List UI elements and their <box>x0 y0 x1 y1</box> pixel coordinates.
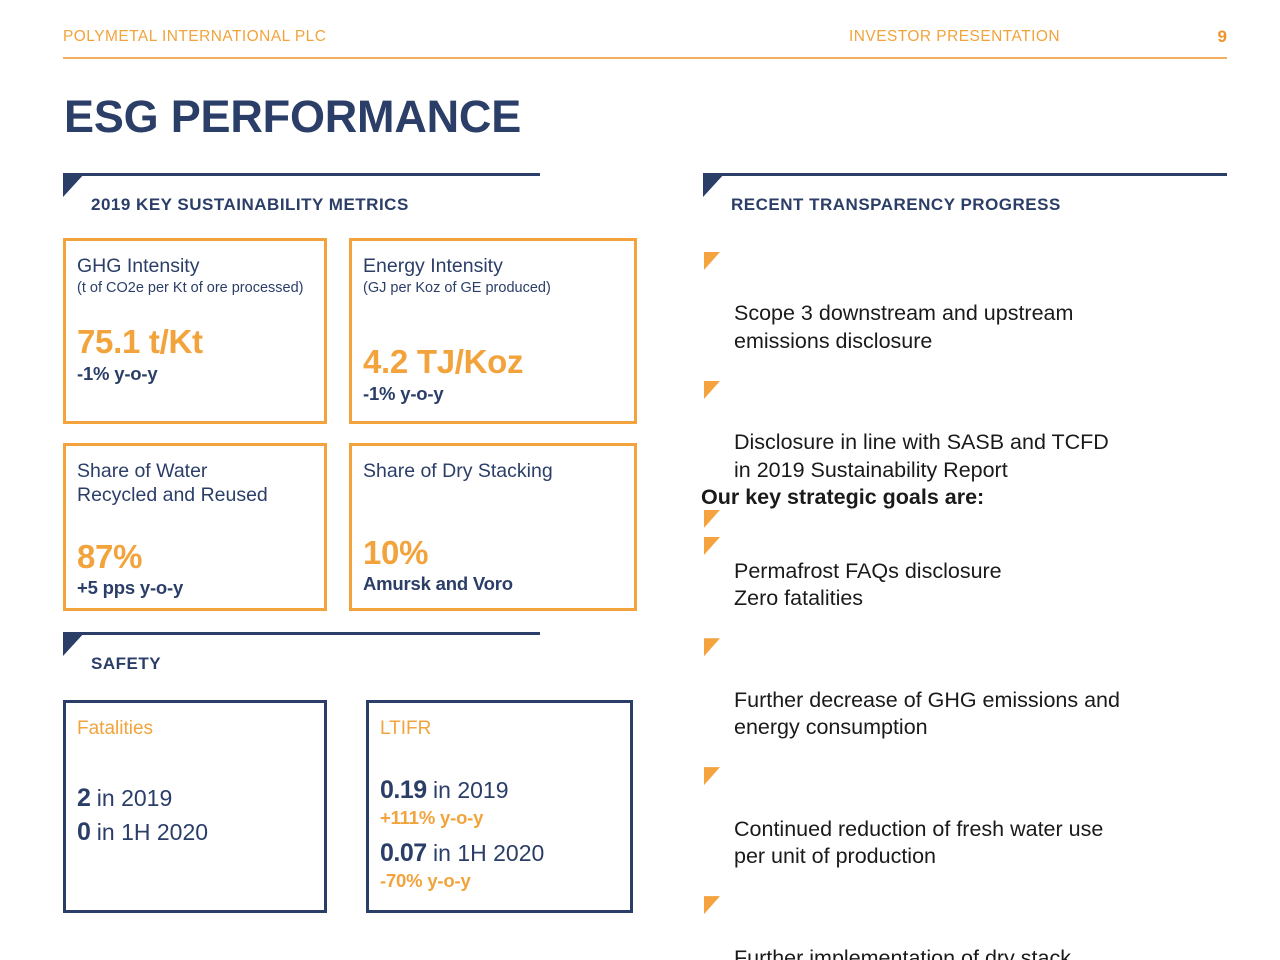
safety-delta: -70% y-o-y <box>380 870 618 892</box>
safety-number: 0.19 <box>380 776 427 804</box>
list-item-text: Continued reduction of fresh water use p… <box>734 817 1103 869</box>
goals-bullet-list: Zero fatalities Further decrease of GHG … <box>699 530 1227 960</box>
safety-period: in 1H 2020 <box>90 819 208 845</box>
metric-delta: +5 pps y-o-y <box>77 577 312 599</box>
section-label: 2019 KEY SUSTAINABILITY METRICS <box>91 195 409 215</box>
list-item: Continued reduction of fresh water use p… <box>699 760 1227 871</box>
safety-card-fatalities: Fatalities 2 in 2019 0 in 1H 2020 <box>63 700 327 913</box>
triangle-bullet-icon <box>704 638 720 656</box>
metric-title: Share of Water Recycled and Reused <box>77 460 312 508</box>
triangle-bullet-icon <box>704 381 720 399</box>
metric-card-water-recycled: Share of Water Recycled and Reused 87% +… <box>63 443 327 611</box>
triangle-bullet-icon <box>704 252 720 270</box>
metric-card-ghg-intensity: GHG Intensity (t of CO2e per Kt of ore p… <box>63 238 327 424</box>
safety-period: in 1H 2020 <box>427 840 545 866</box>
safety-delta: +111% y-o-y <box>380 807 618 829</box>
slide-header: POLYMETAL INTERNATIONAL PLC INVESTOR PRE… <box>63 28 1227 62</box>
metric-value: 87% <box>77 540 312 575</box>
safety-period: in 2019 <box>427 777 509 803</box>
metric-value: 75.1 t/Kt <box>77 325 312 360</box>
safety-card-label: Fatalities <box>77 717 312 740</box>
safety-number: 0.07 <box>380 839 427 867</box>
metric-subtitle: (t of CO2e per Kt of ore processed) <box>77 280 312 297</box>
metric-card-dry-stacking: Share of Dry Stacking 10% Amursk and Vor… <box>349 443 637 611</box>
metric-subtitle: (GJ per Koz of GE produced) <box>363 280 622 297</box>
section-label: SAFETY <box>91 654 161 674</box>
metric-title: Share of Dry Stacking <box>363 460 622 484</box>
metric-value: 10% <box>363 536 622 571</box>
header-divider <box>63 57 1227 59</box>
metric-card-energy-intensity: Energy Intensity (GJ per Koz of GE produ… <box>349 238 637 424</box>
section-rule <box>63 632 540 635</box>
goals-heading: Our key strategic goals are: <box>701 485 984 510</box>
safety-row: 0 in 1H 2020 <box>77 818 312 847</box>
list-item: Disclosure in line with SASB and TCFD in… <box>699 374 1227 485</box>
page-number: 9 <box>1218 27 1227 47</box>
safety-period: in 2019 <box>90 785 172 811</box>
section-rule <box>63 173 540 176</box>
page-title: ESG PERFORMANCE <box>64 91 521 143</box>
triangle-marker-icon <box>63 173 85 197</box>
metric-delta: -1% y-o-y <box>363 383 622 405</box>
triangle-bullet-icon <box>704 767 720 785</box>
triangle-marker-icon <box>703 173 725 197</box>
safety-rows: 2 in 2019 0 in 1H 2020 <box>77 784 312 847</box>
metric-title: Energy Intensity <box>363 255 622 279</box>
section-rule <box>703 173 1227 176</box>
list-item-text: Zero fatalities <box>734 586 863 610</box>
metric-delta: Amursk and Voro <box>363 573 622 595</box>
safety-row: 0.07 in 1H 2020 <box>380 839 618 868</box>
triangle-bullet-icon <box>704 510 720 528</box>
safety-row: 0.19 in 2019 <box>380 776 618 805</box>
list-item-text: Further decrease of GHG emissions and en… <box>734 688 1120 740</box>
triangle-bullet-icon <box>704 537 720 555</box>
list-item: Further decrease of GHG emissions and en… <box>699 631 1227 742</box>
presentation-title: INVESTOR PRESENTATION <box>849 28 1060 46</box>
safety-number: 0 <box>77 818 90 846</box>
metric-delta: -1% y-o-y <box>77 363 312 385</box>
list-item: Zero fatalities <box>699 530 1227 613</box>
slide: POLYMETAL INTERNATIONAL PLC INVESTOR PRE… <box>0 0 1280 960</box>
section-label: RECENT TRANSPARENCY PROGRESS <box>731 195 1061 215</box>
list-item-text: Further implementation of dry stack stor… <box>734 946 1106 960</box>
list-item: Scope 3 downstream and upstream emission… <box>699 245 1227 356</box>
list-item: Further implementation of dry stack stor… <box>699 889 1227 960</box>
safety-card-ltifr: LTIFR 0.19 in 2019 +111% y-o-y 0.07 in 1… <box>366 700 633 913</box>
list-item-text: Disclosure in line with SASB and TCFD in… <box>734 430 1109 482</box>
metric-title: GHG Intensity <box>77 255 312 279</box>
safety-card-label: LTIFR <box>380 717 618 740</box>
triangle-marker-icon <box>63 632 85 656</box>
safety-row: 2 in 2019 <box>77 784 312 813</box>
metric-value: 4.2 TJ/Koz <box>363 345 622 380</box>
safety-rows: 0.19 in 2019 +111% y-o-y 0.07 in 1H 2020… <box>380 776 618 892</box>
company-name: POLYMETAL INTERNATIONAL PLC <box>63 28 326 46</box>
triangle-bullet-icon <box>704 896 720 914</box>
list-item-text: Scope 3 downstream and upstream emission… <box>734 301 1073 353</box>
safety-number: 2 <box>77 784 90 812</box>
